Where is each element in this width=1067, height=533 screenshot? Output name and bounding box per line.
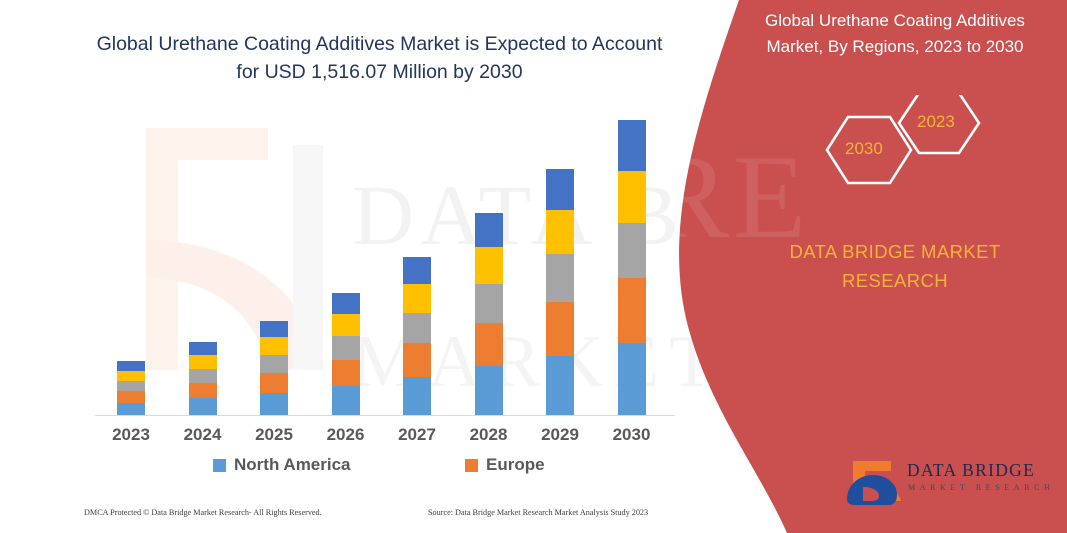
bar-segment-2029-north-america[interactable]	[546, 356, 574, 415]
data-bridge-logo: DATA BRIDGE MARKET RESEARCH	[839, 455, 1051, 507]
logo-tagline: MARKET RESEARCH	[908, 483, 1054, 492]
bar-segment-2030-series-5[interactable]	[618, 120, 646, 171]
bar-segment-2025-series-5[interactable]	[260, 321, 288, 338]
bar-segment-2027-europe[interactable]	[403, 343, 431, 377]
bar-segment-2029-series-3[interactable]	[546, 254, 574, 301]
x-axis-label-2026: 2026	[311, 425, 381, 445]
bar-segment-2024-series-4[interactable]	[189, 355, 217, 369]
right-red-panel: RE Global Urethane Coating Additives Mar…	[667, 0, 1067, 533]
x-axis-label-2025: 2025	[239, 425, 309, 445]
bar-2024[interactable]	[189, 342, 217, 415]
bar-segment-2027-series-3[interactable]	[403, 313, 431, 344]
bar-segment-2029-europe[interactable]	[546, 302, 574, 356]
bar-segment-2028-series-4[interactable]	[475, 247, 503, 284]
bar-segment-2030-europe[interactable]	[618, 278, 646, 343]
hexagon-label-2030: 2030	[845, 139, 883, 159]
red-panel-title: Global Urethane Coating Additives Market…	[739, 8, 1051, 59]
bar-2030[interactable]	[618, 120, 646, 415]
bar-segment-2025-north-america[interactable]	[260, 393, 288, 415]
bar-segment-2023-series-3[interactable]	[117, 381, 145, 391]
hexagon-group: 2030 2023	[799, 95, 1059, 205]
hexagon-label-2023: 2023	[917, 112, 955, 132]
x-axis-line	[95, 415, 675, 416]
bar-segment-2025-series-4[interactable]	[260, 337, 288, 354]
x-axis-label-2028: 2028	[454, 425, 524, 445]
bar-2029[interactable]	[546, 169, 574, 415]
bar-segment-2024-series-3[interactable]	[189, 369, 217, 383]
bar-segment-2028-series-3[interactable]	[475, 284, 503, 322]
legend-item-north-america[interactable]: North America	[213, 455, 351, 475]
bar-segment-2025-series-3[interactable]	[260, 355, 288, 373]
bar-2028[interactable]	[475, 213, 503, 415]
x-axis-labels: 20232024202520262027202820292030	[95, 425, 675, 451]
bar-segment-2028-series-5[interactable]	[475, 213, 503, 247]
bar-segment-2030-north-america[interactable]	[618, 343, 646, 415]
legend-swatch-icon	[213, 459, 226, 472]
footer-copyright: DMCA Protected © Data Bridge Market Rese…	[84, 508, 322, 517]
bar-segment-2030-series-4[interactable]	[618, 171, 646, 223]
legend-swatch-icon	[465, 459, 478, 472]
bar-segment-2023-north-america[interactable]	[117, 403, 145, 415]
bar-segment-2028-north-america[interactable]	[475, 366, 503, 415]
x-axis-label-2027: 2027	[382, 425, 452, 445]
bar-segment-2029-series-5[interactable]	[546, 169, 574, 210]
bar-segment-2030-series-3[interactable]	[618, 223, 646, 278]
bar-segment-2024-europe[interactable]	[189, 383, 217, 399]
x-axis-label-2024: 2024	[168, 425, 238, 445]
infographic-root: DATA BRIDGE MARKET RESEARCH Global Ureth…	[0, 0, 1067, 533]
chart-title: Global Urethane Coating Additives Market…	[92, 30, 667, 87]
chart-plot-area	[95, 120, 675, 416]
bar-segment-2023-series-4[interactable]	[117, 371, 145, 381]
bar-segment-2027-series-5[interactable]	[403, 257, 431, 284]
bar-segment-2026-europe[interactable]	[332, 360, 360, 386]
bar-2026[interactable]	[332, 293, 360, 415]
chart-legend: North AmericaEurope	[95, 455, 675, 481]
bar-segment-2026-north-america[interactable]	[332, 386, 360, 415]
x-axis-label-2029: 2029	[525, 425, 595, 445]
legend-item-europe[interactable]: Europe	[465, 455, 545, 475]
bar-segment-2024-north-america[interactable]	[189, 398, 217, 415]
bar-segment-2025-europe[interactable]	[260, 373, 288, 393]
bar-2027[interactable]	[403, 257, 431, 415]
bar-segment-2023-series-5[interactable]	[117, 361, 145, 371]
bar-segment-2026-series-3[interactable]	[332, 336, 360, 360]
bar-segment-2026-series-5[interactable]	[332, 293, 360, 314]
footer-source: Source: Data Bridge Market Research Mark…	[428, 508, 648, 517]
bar-segment-2028-europe[interactable]	[475, 323, 503, 367]
bar-segment-2026-series-4[interactable]	[332, 314, 360, 337]
bar-segment-2027-series-4[interactable]	[403, 284, 431, 313]
legend-label: North America	[234, 455, 351, 475]
bar-segment-2023-europe[interactable]	[117, 391, 145, 402]
logo-title: DATA BRIDGE	[907, 460, 1035, 481]
bar-segment-2029-series-4[interactable]	[546, 210, 574, 255]
x-axis-label-2030: 2030	[597, 425, 667, 445]
bar-segment-2024-series-5[interactable]	[189, 342, 217, 355]
bar-2025[interactable]	[260, 321, 288, 415]
x-axis-label-2023: 2023	[96, 425, 166, 445]
bar-2023[interactable]	[117, 361, 145, 415]
legend-label: Europe	[486, 455, 545, 475]
brand-name: DATA BRIDGE MARKET RESEARCH	[739, 238, 1051, 295]
footer: DMCA Protected © Data Bridge Market Rese…	[84, 508, 684, 524]
bar-segment-2027-north-america[interactable]	[403, 377, 431, 415]
